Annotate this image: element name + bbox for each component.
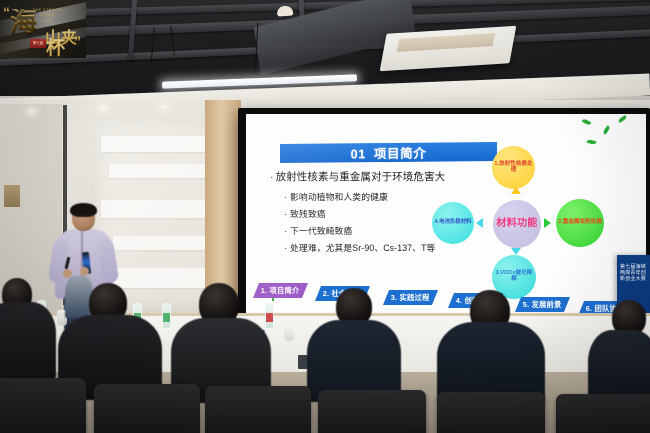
downlight: [160, 105, 167, 108]
arrow-right-icon: [544, 218, 551, 228]
banner-english-text: THE STRAITS STRAIT CUP: [33, 8, 62, 24]
arrow-up-icon: [511, 187, 521, 194]
paper-cup: [284, 325, 294, 341]
event-banner-right-text: 第七届海峡两岸青年创新创业大赛: [620, 264, 648, 282]
bullet-dot-icon: ·: [284, 243, 287, 253]
slide-title: 01 项目简介: [351, 143, 427, 163]
leaf-decoration-icon: [587, 139, 597, 145]
arrow-left-icon: [476, 218, 483, 228]
slide-nav-item-5[interactable]: 5. 发展前景: [515, 297, 570, 312]
diagram-node-battery: 4.电池负极材料: [432, 202, 474, 244]
ceiling-cable: [150, 28, 154, 68]
banner-title-cup: 杯: [46, 33, 65, 58]
presenter-hand-right: [80, 267, 89, 276]
ceiling-object: [277, 5, 294, 16]
conference-room-photo: 01 项目简介 ·放射性核素与重金属对于环境危害大 ·影响动植物和人类的健康 ·…: [0, 0, 650, 433]
leaf-decoration-icon: [618, 115, 628, 123]
chair: [0, 378, 86, 433]
bullet-dot-icon: ·: [284, 209, 287, 219]
diagram-node-center: 材料功能: [493, 200, 541, 248]
chair: [318, 390, 426, 433]
quote-mark-open: “: [3, 4, 10, 20]
bullet-dot-icon: ·: [284, 226, 287, 236]
arrow-down-icon: [511, 248, 521, 255]
chair: [205, 386, 311, 433]
water-bottle: [162, 303, 171, 329]
wall-plaque: [4, 185, 20, 207]
presentation-screen[interactable]: 01 项目简介 ·放射性核素与重金属对于环境危害大 ·影响动植物和人类的健康 ·…: [246, 114, 646, 317]
glasses-icon: [74, 215, 93, 219]
banner-edition-seal: 第七届: [30, 39, 46, 48]
water-bottle: [265, 303, 274, 329]
slide-nav-item-1[interactable]: 1. 项目简介: [253, 283, 308, 298]
quote-mark-close: ”: [74, 33, 81, 49]
slide-nav-item-3[interactable]: 3. 实践过程: [383, 290, 438, 305]
leaf-decoration-icon: [582, 118, 592, 126]
slide: 01 项目简介 ·放射性核素与重金属对于环境危害大 ·影响动植物和人类的健康 ·…: [246, 114, 646, 317]
bullet-dot-icon: ·: [270, 171, 274, 183]
chair: [556, 394, 650, 433]
chair: [437, 392, 545, 433]
slide-diagram: 1.放射性核素处理 2.重金属吸附处理 3.VOCs催化降解 4.电池负极材料 …: [434, 158, 634, 298]
downlight: [100, 107, 107, 110]
diagram-node-radioactive: 1.放射性核素处理: [492, 146, 535, 189]
leaf-decoration-icon: [602, 125, 611, 135]
event-banner-top-left: “ 海 山夹 杯 THE STRAITS STRAIT CUP 第七届 ”: [0, 0, 86, 58]
downlight: [28, 110, 35, 113]
diagram-node-heavy-metal: 2.重金属吸附处理: [556, 199, 604, 247]
chair: [94, 384, 200, 433]
bullet-dot-icon: ·: [284, 192, 287, 202]
